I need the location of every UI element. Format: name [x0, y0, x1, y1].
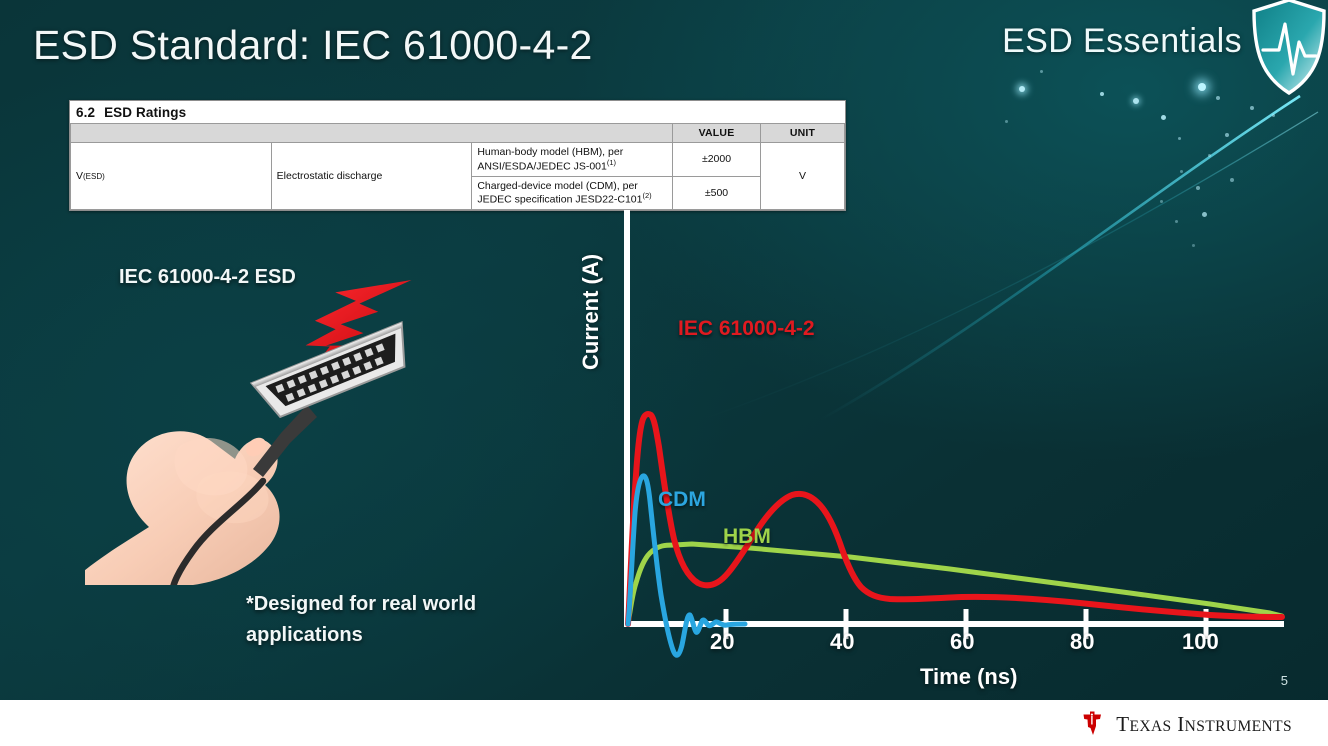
- esd-waveform-chart: 20 40 60 80 100: [570, 195, 1310, 695]
- symbol-subscript: (ESD): [83, 172, 105, 181]
- note-text: *Designed for real world applications: [246, 589, 556, 651]
- series-label-iec: IEC 61000-4-2: [678, 317, 815, 341]
- slide-title: ESD Standard: IEC 61000-4-2: [33, 22, 593, 69]
- series-iec-curve: [628, 414, 1282, 624]
- y-axis-label: Current (A): [578, 254, 604, 370]
- table-header-unit: UNIT: [761, 124, 845, 143]
- cell-symbol: V(ESD): [71, 143, 272, 210]
- texas-instruments-logo: TEXAS INSTRUMENTS: [1077, 709, 1292, 739]
- shield-pulse-icon: [1246, 0, 1328, 106]
- footnote-marker: (1): [607, 158, 616, 167]
- hand-holding-hdmi-connector-icon: [85, 255, 445, 585]
- x-axis-label: Time (ns): [920, 664, 1017, 690]
- x-tick-60: 60: [950, 629, 974, 655]
- x-tick-40: 40: [830, 629, 854, 655]
- cell-parameter: Electrostatic discharge: [271, 143, 472, 210]
- company-rest-2: NSTRUMENTS: [1185, 718, 1292, 735]
- x-tick-80: 80: [1070, 629, 1094, 655]
- x-tick-20: 20: [710, 629, 734, 655]
- page-number: 5: [1281, 673, 1288, 688]
- cell-value-hbm: ±2000: [673, 143, 761, 176]
- table-header-blank: [71, 124, 673, 143]
- table-header-value: VALUE: [673, 124, 761, 143]
- texas-instruments-logo-icon: [1077, 709, 1107, 739]
- chart-svg: [570, 195, 1310, 695]
- footer-bar: TEXAS INSTRUMENTS: [0, 700, 1328, 746]
- x-tick-100: 100: [1182, 629, 1219, 655]
- section-number: 6.2: [76, 105, 95, 120]
- series-label-cdm: CDM: [658, 488, 706, 512]
- cell-condition-hbm: Human-body model (HBM), per ANSI/ESDA/JE…: [472, 143, 673, 176]
- company-initial-1: T: [1116, 712, 1129, 736]
- symbol-main: V: [76, 170, 83, 182]
- condition-text: Human-body model (HBM), per ANSI/ESDA/JE…: [477, 146, 623, 172]
- section-title: ESD Ratings: [104, 105, 186, 120]
- table-header-row: VALUE UNIT: [71, 124, 845, 143]
- slide-canvas: ESD Standard: IEC 61000-4-2 ESD Essentia…: [0, 0, 1328, 746]
- company-name: TEXAS INSTRUMENTS: [1116, 712, 1292, 737]
- company-initial-2: I: [1177, 712, 1184, 736]
- table-row: V(ESD) Electrostatic discharge Human-bod…: [71, 143, 845, 176]
- brand-label: ESD Essentials: [1002, 22, 1242, 61]
- series-label-hbm: HBM: [723, 525, 771, 549]
- company-rest-1: EXAS: [1130, 718, 1172, 735]
- table-section-heading: 6.2ESD Ratings: [70, 101, 845, 123]
